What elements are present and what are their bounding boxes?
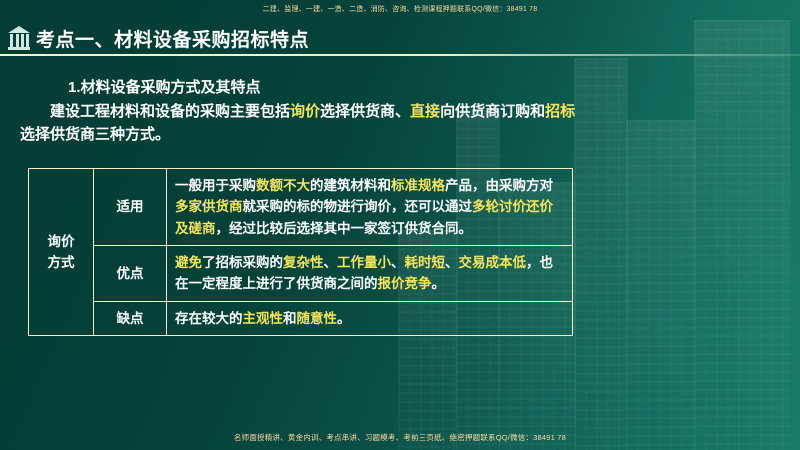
row-group-label: 询价方式 [29,169,94,336]
building-silhouette [694,20,790,450]
table-row: 询价方式 适用 一般用于采购数额不大的建筑材料和标准规格产品，由采购方对多家供货… [29,169,573,246]
bank-icon [8,25,30,51]
table-row: 缺点 存在较大的主观性和随意性。 [29,301,573,335]
sub-heading: 1.材料设备采购方式及其特点 [68,76,261,97]
top-marquee-text: 二建、监理、一建、一造、二造、消防、咨询、检测课程押题联系QQ/微信：38491… [0,4,800,14]
table-body: 询价方式 适用 一般用于采购数额不大的建筑材料和标准规格产品，由采购方对多家供货… [29,169,573,336]
intro-paragraph: 建设工程材料和设备的采购主要包括询价选择供货商、直接向供货商订购和招标选择供货商… [20,100,580,147]
slide-root: 二建、监理、一建、一造、二造、消防、咨询、检测课程押题联系QQ/微信：38491… [0,0,800,450]
title-divider [0,54,800,56]
table-row: 优点 避免了招标采购的复杂性、工作量小、耗时短、交易成本低，也在一定程度上进行了… [29,245,573,301]
building-silhouette [626,120,696,450]
row-label: 缺点 [94,301,167,335]
table-cell-content: 一般用于采购数额不大的建筑材料和标准规格产品，由采购方对多家供货商就采购的标的物… [167,169,573,246]
table-cell-content: 避免了招标采购的复杂性、工作量小、耗时短、交易成本低，也在一定程度上进行了供货商… [167,245,573,301]
page-title: 考点一、材料设备采购招标特点 [36,25,309,52]
building-silhouette [574,58,628,450]
bottom-marquee-text: 名师面授精讲、黄金内训、考点串讲、习题模考、考前三页纸、绝密押题联系QQ/微信：… [0,432,800,443]
slide-title-bar: 考点一、材料设备采购招标特点 [0,22,800,54]
row-label: 适用 [94,169,167,246]
row-label: 优点 [94,245,167,301]
table-cell-content: 存在较大的主观性和随意性。 [167,301,573,335]
comparison-table: 询价方式 适用 一般用于采购数额不大的建筑材料和标准规格产品，由采购方对多家供货… [28,168,573,336]
